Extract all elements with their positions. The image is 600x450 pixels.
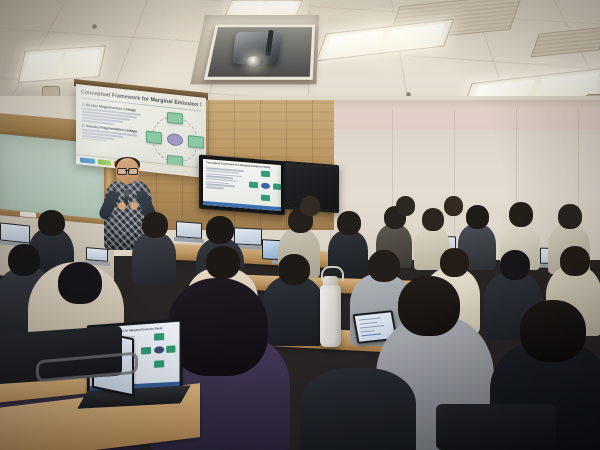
monitor-text-block bbox=[206, 166, 244, 190]
ceiling-light-fixture bbox=[18, 45, 106, 83]
wall-monitor-left: Conceptual Framework for Marginal Emissi… bbox=[199, 155, 285, 216]
monitor-display: Conceptual Framework for Marginal Emissi… bbox=[203, 159, 281, 211]
laptop-node-bottom bbox=[154, 360, 164, 368]
presenter-hand-right bbox=[130, 202, 138, 210]
presenter-hand-left bbox=[118, 202, 126, 210]
monitor-node-right bbox=[273, 183, 281, 190]
monitor-node-left bbox=[249, 182, 258, 189]
footer-logo-icon bbox=[80, 157, 95, 164]
chair-back bbox=[436, 404, 556, 450]
monitor-hub bbox=[261, 182, 270, 189]
projector-lens-icon bbox=[246, 56, 263, 67]
diagram-node-top bbox=[167, 112, 183, 125]
monitor-footer-bar bbox=[203, 201, 281, 211]
laptop-diagram bbox=[141, 332, 175, 368]
slide-bullet-column: 1. Electric Megastructure Linkage 2. Ind… bbox=[82, 101, 144, 146]
wall-top-trim bbox=[330, 100, 600, 109]
laptop-node-left bbox=[141, 347, 151, 355]
ceiling-sensor bbox=[92, 24, 97, 29]
lecture-hall-photo: Conceptual Framework for Marginal Emissi… bbox=[0, 0, 600, 450]
ceiling-light-fixture bbox=[225, 0, 303, 16]
monitor-diagram bbox=[249, 170, 281, 203]
eyeglasses-icon bbox=[117, 168, 138, 173]
monitor-node-top bbox=[261, 170, 270, 177]
water-bottle bbox=[320, 285, 341, 347]
laptop-front-1 bbox=[176, 221, 202, 243]
diagram-node-right bbox=[188, 135, 204, 149]
laptop-node-top bbox=[154, 333, 164, 341]
diagram-node-left bbox=[146, 131, 162, 145]
laptop-hub bbox=[154, 346, 164, 354]
monitor-node-bottom bbox=[261, 194, 270, 201]
microphone-head-icon bbox=[123, 190, 130, 196]
laptop-node-right bbox=[166, 345, 175, 353]
